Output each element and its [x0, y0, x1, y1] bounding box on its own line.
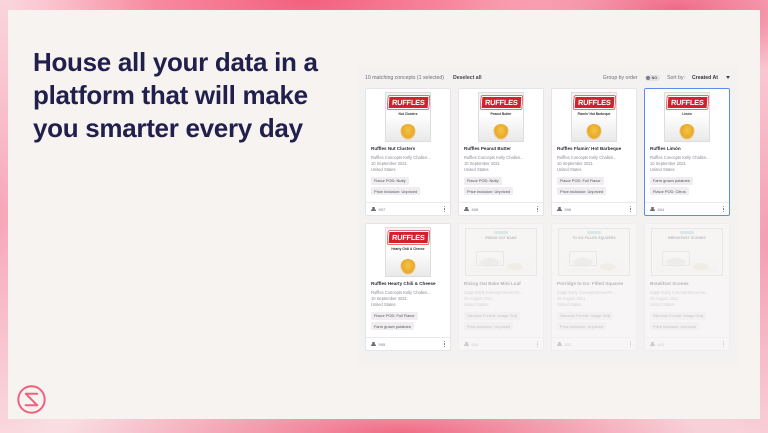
more-options-icon[interactable] — [444, 341, 445, 347]
person-icon — [650, 342, 655, 347]
concept-title: Ruffles Flamin' Hot Barbeque — [557, 146, 631, 152]
concept-card-body: Ruffles Nut ClustersRuffles Concepts Kel… — [366, 142, 450, 202]
concept-tag-list: Stimulus Format: Image OnlyPrice Inclusi… — [650, 312, 724, 331]
concept-sketch-image: TO GO FILLED SQUARES — [558, 228, 630, 276]
ruffles-brand-logo: RUFFLES — [666, 96, 708, 109]
concept-title: Porridge to Go: Filled Squares — [557, 281, 631, 287]
potato-chips-icon — [493, 124, 509, 140]
more-options-icon[interactable] — [537, 341, 538, 347]
potato-chips-icon — [679, 124, 695, 140]
potato-chips-icon — [586, 124, 602, 140]
person-icon — [650, 207, 655, 212]
more-options-icon[interactable] — [723, 341, 724, 347]
respondent-count: 596 — [565, 207, 572, 212]
sketch-artwork — [563, 245, 625, 273]
concept-tag-list: Stimulus Format: Image OnlyPrice Inclusi… — [464, 312, 538, 331]
concept-card-body: Rising Oat Bake Mini LoafZappi Early Con… — [459, 277, 543, 337]
page-title: House all your data in a platform that w… — [33, 46, 333, 145]
concept-card-body: Ruffles LimónRuffles Concepts Kelly Chal… — [645, 142, 729, 202]
pack-flavor-label: Limón — [667, 113, 707, 117]
concept-country: United States — [371, 167, 445, 173]
pack-flavor-label: Nut Clusters — [388, 113, 428, 117]
concept-card-footer: 597 — [366, 202, 450, 215]
concept-sketch-image: BREAKFAST SCONES — [651, 228, 723, 276]
concept-title: Ruffles Peanut Butter — [464, 146, 538, 152]
concept-card-grid: RUFFLESNut ClustersRuffles Nut ClustersR… — [358, 88, 738, 351]
concepts-app-panel: 10 matching concepts (1 selected) Desele… — [358, 67, 738, 364]
more-options-icon[interactable] — [723, 206, 724, 212]
concept-country: United States — [650, 302, 724, 308]
concept-tag: Farm grown potatoes — [371, 322, 414, 330]
more-options-icon[interactable] — [630, 206, 631, 212]
concept-tag: Price Inclusion: Unpriced — [650, 322, 699, 330]
concept-card-footer: 595 — [366, 337, 450, 350]
concept-card-body: Ruffles Peanut ButterRuffles Concepts Ke… — [459, 142, 543, 202]
ruffles-pack-image: RUFFLESNut Clusters — [385, 92, 431, 142]
group-by-order-label: Group by order — [603, 75, 638, 81]
concept-card-body: Ruffles Hearty Chili & CheeseRuffles Con… — [366, 277, 450, 337]
person-icon — [464, 207, 469, 212]
person-icon — [371, 207, 376, 212]
concept-tag: Farm grown potatoes — [650, 177, 693, 185]
concept-title: Ruffles Hearty Chili & Cheese — [371, 281, 445, 287]
respondent-count: 604 — [658, 207, 665, 212]
matching-concepts-count: 10 matching concepts (1 selected) — [365, 75, 444, 81]
concept-image: TO GO FILLED SQUARES — [552, 224, 636, 277]
ruffles-pack-image: RUFFLESHearty Chili & Cheese — [385, 227, 431, 277]
sort-by-value[interactable]: Created At — [692, 75, 718, 81]
concept-sketch-image: RISING OAT BAKE — [465, 228, 537, 276]
concept-image: RUFFLESPeanut Butter — [459, 89, 543, 142]
concept-image: RUFFLESHearty Chili & Cheese — [366, 224, 450, 277]
sketch-title-label: TO GO FILLED SQUARES — [572, 236, 615, 240]
concept-tag: Price Inclusion: Unpriced — [557, 322, 606, 330]
sketch-title-label: BREAKFAST SCONES — [668, 236, 706, 240]
concept-title: Rising Oat Bake Mini Loaf — [464, 281, 538, 287]
potato-chips-icon — [400, 124, 416, 140]
respondent-count: 595 — [379, 342, 386, 347]
concept-image: BREAKFAST SCONES — [645, 224, 729, 277]
concept-country: United States — [464, 167, 538, 173]
toolbar: 10 matching concepts (1 selected) Desele… — [358, 67, 738, 88]
concept-card[interactable]: RISING OAT BAKERising Oat Bake Mini Loaf… — [458, 223, 544, 351]
ruffles-pack-image: RUFFLESPeanut Butter — [478, 92, 524, 142]
concept-tag: Flavor POD: Citrus — [650, 187, 689, 195]
ruffles-brand-logo: RUFFLES — [387, 96, 429, 109]
sketch-badge-icon — [680, 231, 694, 235]
concept-country: United States — [371, 302, 445, 308]
concept-title: Ruffles Limón — [650, 146, 724, 152]
concept-tag: Price Inclusion: Unpriced — [557, 187, 606, 195]
concept-title: Breakfast Scones — [650, 281, 724, 287]
concept-image: RISING OAT BAKE — [459, 224, 543, 277]
concept-card[interactable]: BREAKFAST SCONESBreakfast SconesZappi Ea… — [644, 223, 730, 351]
concept-tag-list: Flavor POD: NuttyPrice Inclusion: Unpric… — [464, 177, 538, 196]
concept-card-footer: 608 — [459, 202, 543, 215]
concept-tag: Flavor POD: Nutty — [464, 177, 502, 185]
more-options-icon[interactable] — [537, 206, 538, 212]
concept-image: RUFFLESNut Clusters — [366, 89, 450, 142]
concept-card-body: Porridge to Go: Filled SquaresZappi Earl… — [552, 277, 636, 337]
concept-tag: Stimulus Format: Image Only — [650, 312, 706, 320]
more-options-icon[interactable] — [630, 341, 631, 347]
toggle-state-label: NO — [652, 76, 657, 80]
concept-card[interactable]: RUFFLESLimónRuffles LimónRuffles Concept… — [644, 88, 730, 216]
concept-card[interactable]: RUFFLESHearty Chili & CheeseRuffles Hear… — [365, 223, 451, 351]
chevron-down-icon[interactable] — [726, 76, 730, 79]
more-options-icon[interactable] — [444, 206, 445, 212]
concept-tag: Stimulus Format: Image Only — [557, 312, 613, 320]
concept-tag-list: Farm grown potatoesFlavor POD: Citrus — [650, 177, 724, 196]
concept-card-footer: 604 — [645, 202, 729, 215]
concept-title: Ruffles Nut Clusters — [371, 146, 445, 152]
concept-card-footer: 596 — [552, 202, 636, 215]
concept-tag: Flavor POD: Full Flavor — [371, 312, 418, 320]
concept-tag: Price Inclusion: Unpriced — [371, 187, 420, 195]
sketch-artwork — [470, 245, 532, 273]
pack-flavor-label: Hearty Chili & Cheese — [388, 248, 428, 252]
concept-card-body: Breakfast SconesZappi Early Concept Demo… — [645, 277, 729, 337]
respondent-count: 600 — [565, 342, 572, 347]
concept-tag-list: Stimulus Format: Image OnlyPrice Inclusi… — [557, 312, 631, 331]
deselect-all-button[interactable]: Deselect all — [453, 75, 482, 81]
concept-card[interactable]: RUFFLESPeanut ButterRuffles Peanut Butte… — [458, 88, 544, 216]
ruffles-brand-logo: RUFFLES — [573, 96, 615, 109]
person-icon — [557, 342, 562, 347]
ruffles-pack-image: RUFFLESLimón — [664, 92, 710, 142]
concept-image: RUFFLESFlamin' Hot Barbeque — [552, 89, 636, 142]
respondent-count: 597 — [379, 207, 386, 212]
respondent-count: 600 — [472, 342, 479, 347]
concept-card-footer: 600 — [552, 337, 636, 350]
sketch-badge-icon — [494, 231, 508, 235]
group-by-order-toggle[interactable]: NO — [645, 75, 660, 81]
concept-country: United States — [650, 167, 724, 173]
concept-image: RUFFLESLimón — [645, 89, 729, 142]
pack-flavor-label: Flamin' Hot Barbeque — [574, 113, 614, 117]
ruffles-pack-image: RUFFLESFlamin' Hot Barbeque — [571, 92, 617, 142]
concept-card-body: Ruffles Flamin' Hot BarbequeRuffles Conc… — [552, 142, 636, 202]
concept-tag: Flavor POD: Full Flavor — [557, 177, 604, 185]
person-icon — [557, 207, 562, 212]
respondent-count: 608 — [472, 207, 479, 212]
potato-chips-icon — [400, 259, 416, 275]
ruffles-brand-logo: RUFFLES — [480, 96, 522, 109]
concept-tag: Price Inclusion: Unpriced — [464, 322, 513, 330]
concept-tag: Flavor POD: Nutty — [371, 177, 409, 185]
sketch-title-label: RISING OAT BAKE — [485, 236, 517, 240]
concept-country: United States — [557, 302, 631, 308]
person-icon — [371, 342, 376, 347]
toggle-knob-icon — [646, 76, 650, 80]
respondent-count: 600 — [658, 342, 665, 347]
sort-by-label: Sort by: — [667, 75, 685, 81]
concept-country: United States — [557, 167, 631, 173]
concept-tag-list: Flavor POD: Full FlavorFarm grown potato… — [371, 312, 445, 331]
sketch-artwork — [656, 245, 718, 273]
concept-tag-list: Flavor POD: Full FlavorPrice Inclusion: … — [557, 177, 631, 196]
concept-tag-list: Flavor POD: NuttyPrice Inclusion: Unpric… — [371, 177, 445, 196]
concept-country: United States — [464, 302, 538, 308]
concept-card[interactable]: RUFFLESFlamin' Hot BarbequeRuffles Flami… — [551, 88, 637, 216]
person-icon — [464, 342, 469, 347]
concept-card[interactable]: TO GO FILLED SQUARESPorridge to Go: Fill… — [551, 223, 637, 351]
pack-flavor-label: Peanut Butter — [481, 113, 521, 117]
concept-card-footer: 600 — [645, 337, 729, 350]
zappi-logo — [15, 383, 48, 416]
ruffles-brand-logo: RUFFLES — [387, 231, 429, 244]
sketch-badge-icon — [587, 231, 601, 235]
concept-card[interactable]: RUFFLESNut ClustersRuffles Nut ClustersR… — [365, 88, 451, 216]
concept-card-footer: 600 — [459, 337, 543, 350]
concept-tag: Price Inclusion: Unpriced — [464, 187, 513, 195]
concept-tag: Stimulus Format: Image Only — [464, 312, 520, 320]
